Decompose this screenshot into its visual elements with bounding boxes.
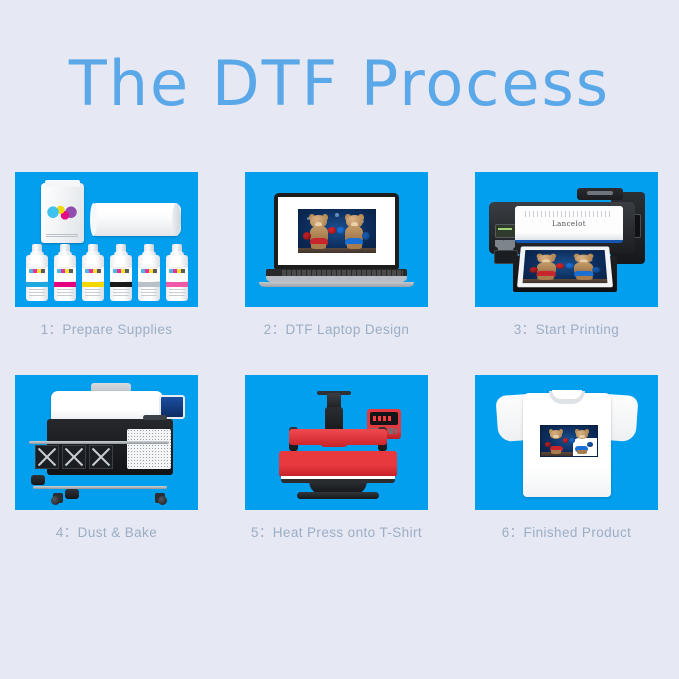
step-1-caption: 1：Prepare Supplies (15, 318, 198, 338)
shaker-roller (31, 475, 45, 485)
page-title: The DTF Process (0, 50, 679, 118)
bear-legs (538, 276, 554, 280)
step-1-image (15, 172, 198, 307)
bear-red (305, 215, 332, 249)
bottle-color-band (54, 282, 76, 287)
shaker-rail-bottom (33, 486, 167, 489)
press-upper-plate (289, 429, 387, 445)
shaker-wheel (158, 496, 167, 505)
bear-red (547, 430, 566, 453)
step-4-caption: 4：Dust & Bake (15, 521, 198, 541)
bear-blue (570, 254, 599, 280)
cooling-fan (62, 445, 86, 469)
bottle-logo (141, 269, 157, 273)
ink-bottle-light-magenta (166, 244, 188, 301)
step-2-dtf-laptop-design: 2：DTF Laptop Design (245, 172, 428, 338)
step-5-caption: 5：Heat Press onto T-Shirt (245, 521, 428, 541)
steps-grid: 1：Prepare Supplies (15, 172, 665, 541)
bottle-logo (169, 269, 185, 273)
boxing-glove (563, 438, 569, 443)
bottle-color-band (110, 282, 132, 287)
white-tshirt (497, 385, 637, 503)
bottle-color-band (138, 282, 160, 287)
swing-away-heat-press (279, 389, 397, 499)
boxing-bears-print (540, 425, 598, 457)
boxing-glove (570, 438, 576, 443)
printer-lcd (495, 224, 517, 238)
bear-legs (311, 244, 326, 249)
bottle-label-lines (169, 289, 185, 296)
bottle-color-band (26, 282, 48, 287)
step-5-image (245, 375, 428, 510)
boxing-glove (328, 227, 336, 235)
bear-red (531, 254, 560, 280)
laptop-screen (278, 197, 395, 265)
boxing-glove (566, 263, 574, 269)
display-digits (373, 416, 393, 421)
step-6-image (475, 375, 658, 510)
laptop-foot (259, 282, 414, 287)
boxing-glove (337, 227, 345, 235)
shaker-wheel (51, 496, 60, 505)
bear-legs (576, 276, 592, 280)
step-3-start-printing: Lancelot (475, 172, 658, 338)
printer-platen (517, 246, 613, 287)
roll-end-left (90, 203, 97, 236)
boxing-glove (545, 442, 551, 447)
printer-brand-label: Lancelot (515, 220, 623, 228)
cooling-fan (35, 445, 59, 469)
step-2-caption: 2：DTF Laptop Design (245, 318, 428, 338)
bottle-logo (29, 269, 45, 273)
bottle-label-lines (57, 289, 73, 296)
ink-bottle-white (138, 244, 160, 301)
bear-legs (347, 244, 362, 249)
bag-seal (45, 180, 80, 187)
hot-melt-powder-bag (41, 183, 84, 243)
bear-legs (577, 450, 588, 454)
laptop (274, 193, 399, 287)
lcd-line (498, 228, 512, 230)
roll-end-right (172, 203, 181, 236)
step-3-image: Lancelot (475, 172, 658, 307)
bottle-label-lines (29, 289, 45, 296)
bottle-logo (85, 269, 101, 273)
shaker-vent-grille (127, 429, 171, 469)
press-lower-plate (279, 451, 397, 477)
ink-bottle-cyan (26, 244, 48, 301)
boxing-glove (592, 267, 601, 273)
boxing-glove (587, 442, 593, 447)
ink-bottle-magenta (54, 244, 76, 301)
cooling-fan (89, 445, 113, 469)
printer-handle (587, 191, 613, 195)
step-4-dust-and-bake: 4：Dust & Bake (15, 375, 198, 541)
shaker-rail-top (29, 441, 169, 444)
ink-bottle-black (110, 244, 132, 301)
bottle-color-band (166, 282, 188, 287)
step-2-image (245, 172, 428, 307)
dtf-process-infographic: The DTF Process (0, 0, 679, 679)
boxing-glove (556, 263, 564, 269)
ink-bottles (26, 244, 188, 301)
bottle-label-lines (113, 289, 129, 296)
boxing-glove (362, 232, 370, 240)
ink-bottle-yellow (82, 244, 104, 301)
step-6-caption: 6：Finished Product (475, 521, 658, 541)
step-6-finished-product: 6：Finished Product (475, 375, 658, 541)
bear-muzzle (579, 435, 584, 438)
shaker-cooling-fans (35, 445, 113, 479)
bag-color-graphic (47, 205, 77, 221)
bottle-color-band (82, 282, 104, 287)
printer-buttons (495, 240, 515, 250)
step-4-image (15, 375, 198, 510)
spark (335, 213, 339, 217)
printer-top-lid (577, 188, 623, 200)
step-5-heat-press: 5：Heat Press onto T-Shirt (245, 375, 428, 541)
bottle-label-lines (141, 289, 157, 296)
printer-vent (525, 211, 613, 217)
bear-blue (572, 430, 591, 453)
bottle-logo (57, 269, 73, 273)
press-stand-base (297, 492, 379, 499)
dtf-film-roll (93, 203, 181, 236)
step-1-prepare-supplies: 1：Prepare Supplies (15, 172, 198, 338)
printed-film (523, 250, 608, 283)
bottle-logo (113, 269, 129, 273)
bear-legs (551, 450, 562, 454)
step-3-caption: 3：Start Printing (475, 318, 658, 338)
bear-muzzle (553, 435, 558, 438)
tshirt-collar-inner (552, 390, 582, 399)
controller-display (370, 412, 398, 425)
laptop-lid (274, 193, 399, 269)
laptop-keyboard (282, 270, 403, 276)
bear-blue (341, 215, 368, 249)
bag-label-text (46, 234, 78, 237)
dtf-printer: Lancelot (489, 188, 645, 292)
bottle-label-lines (85, 289, 101, 296)
shaker-roller (65, 489, 79, 499)
printer-front-panel: Lancelot (515, 206, 623, 243)
powder-shaker-dryer (29, 385, 187, 503)
shaker-handle (143, 415, 167, 420)
boxing-bears-artwork (298, 209, 376, 253)
boxing-glove (303, 232, 311, 240)
